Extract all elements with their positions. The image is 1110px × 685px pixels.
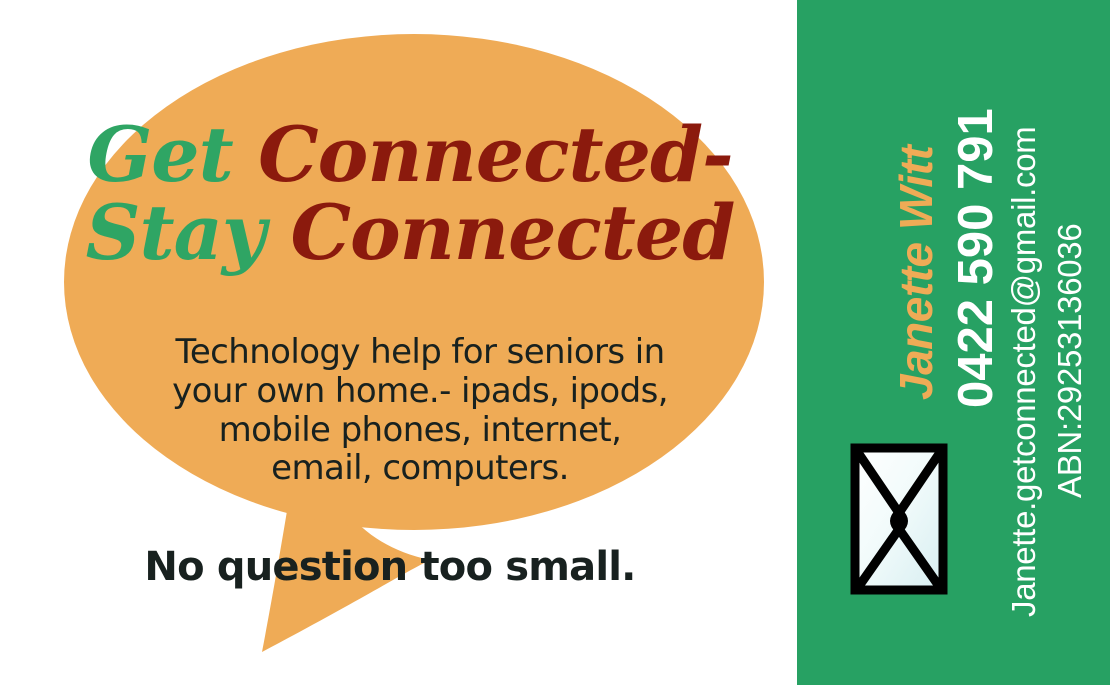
body-line-2: your own home.- ipads, ipods, bbox=[120, 372, 720, 411]
contact-abn: ABN:29253136036 bbox=[1053, 224, 1086, 498]
body-line-1: Technology help for seniors in bbox=[120, 333, 720, 372]
business-card: Get Connected- Stay Connected Technology… bbox=[0, 0, 1110, 685]
contact-email[interactable]: Janette.getconnected@gmail.com bbox=[1007, 127, 1040, 617]
envelope-icon bbox=[850, 443, 948, 595]
body-line-3: mobile phones, internet, bbox=[120, 411, 720, 450]
body-copy: Technology help for seniors in your own … bbox=[120, 333, 720, 488]
body-line-4: email, computers. bbox=[120, 449, 720, 488]
tagline: No question too small. bbox=[100, 544, 680, 590]
contact-name: Janette Witt bbox=[893, 146, 939, 400]
contact-phone[interactable]: 0422 590 791 bbox=[952, 108, 1001, 408]
